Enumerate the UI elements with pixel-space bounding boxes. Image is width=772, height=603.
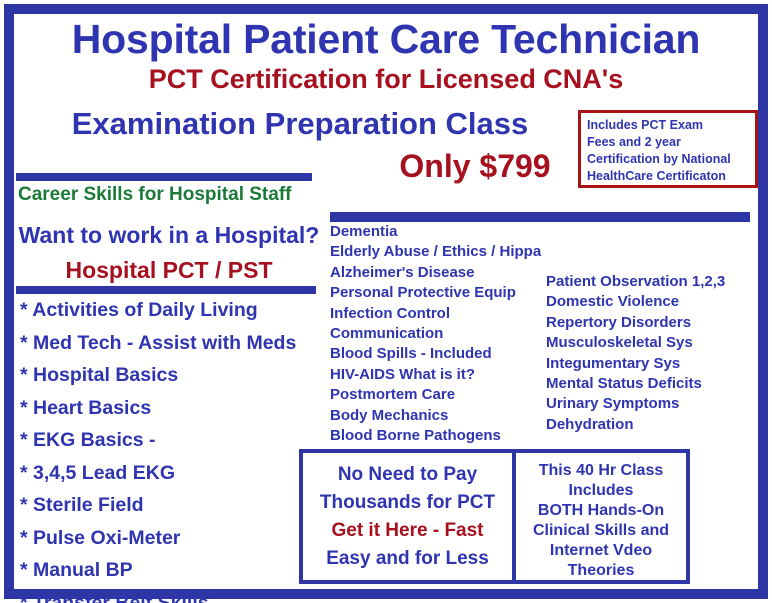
bottom-callout-boxes: No Need to Pay Thousands for PCT Get it … bbox=[299, 449, 690, 584]
list-item: Blood Borne Pathogens bbox=[330, 426, 545, 446]
list-item: Dementia bbox=[330, 222, 545, 242]
list-item: * Hospital Basics bbox=[20, 359, 320, 392]
topics-right-list: Patient Observation 1,2,3 Domestic Viole… bbox=[546, 272, 761, 435]
list-item: Postmortem Care bbox=[330, 385, 545, 405]
price-label: Only $799 bbox=[370, 148, 580, 185]
value-line: Thousands for PCT bbox=[303, 489, 512, 517]
list-item: Musculoskeletal Sys bbox=[546, 333, 761, 353]
list-item: Elderly Abuse / Ethics / Hippa bbox=[330, 242, 545, 262]
list-item: * Manual BP bbox=[20, 554, 320, 587]
list-item: * EKG Basics - bbox=[20, 424, 320, 457]
list-item: Integumentary Sys bbox=[546, 354, 761, 374]
note-line: Fees and 2 year bbox=[587, 134, 751, 151]
list-item: Mental Status Deficits bbox=[546, 374, 761, 394]
class-details-box: This 40 Hr Class Includes BOTH Hands-On … bbox=[516, 453, 686, 580]
list-item: Personal Protective Equip bbox=[330, 283, 545, 303]
page-third-line: Examination Preparation Class bbox=[10, 106, 590, 142]
list-item: Infection Control bbox=[330, 304, 545, 324]
divider-rule-left-bottom bbox=[16, 286, 316, 294]
list-item: Body Mechanics bbox=[330, 406, 545, 426]
value-callout-box: No Need to Pay Thousands for PCT Get it … bbox=[303, 453, 516, 580]
list-item: * Transfer Belt Skills bbox=[20, 587, 320, 603]
list-item: Communication bbox=[330, 324, 545, 344]
list-item: HIV-AIDS What is it? bbox=[330, 365, 545, 385]
list-item: Blood Spills - Included bbox=[330, 344, 545, 364]
value-line: No Need to Pay bbox=[303, 461, 512, 489]
list-item: Alzheimer's Disease bbox=[330, 263, 545, 283]
note-line: Certification by National bbox=[587, 151, 751, 168]
page-title: Hospital Patient Care Technician bbox=[14, 16, 758, 63]
hospital-question: Want to work in a Hospital? bbox=[14, 222, 324, 249]
divider-rule-left-top bbox=[16, 173, 312, 181]
program-name: Hospital PCT / PST bbox=[14, 257, 324, 284]
list-item: * Activities of Daily Living bbox=[20, 294, 320, 327]
list-item: Dehydration bbox=[546, 415, 761, 435]
flyer-poster: Hospital Patient Care Technician PCT Cer… bbox=[0, 0, 772, 603]
note-line: Includes PCT Exam bbox=[587, 117, 751, 134]
list-item: Urinary Symptoms bbox=[546, 394, 761, 414]
class-line: Clinical Skills and bbox=[516, 521, 686, 541]
list-item: * Heart Basics bbox=[20, 392, 320, 425]
list-item: Domestic Violence bbox=[546, 292, 761, 312]
value-line-accent: Get it Here - Fast bbox=[303, 517, 512, 545]
note-line: HealthCare Certificaton bbox=[587, 168, 751, 185]
class-line: Internet Vdeo bbox=[516, 541, 686, 561]
list-item: * 3,4,5 Lead EKG bbox=[20, 457, 320, 490]
class-line: BOTH Hands-On bbox=[516, 501, 686, 521]
class-line: Includes bbox=[516, 481, 686, 501]
class-line: Theories bbox=[516, 561, 686, 580]
list-item: Patient Observation 1,2,3 bbox=[546, 272, 761, 292]
page-subtitle: PCT Certification for Licensed CNA's bbox=[14, 64, 758, 95]
career-skills-heading: Career Skills for Hospital Staff bbox=[18, 184, 328, 206]
topics-middle-list: Dementia Elderly Abuse / Ethics / Hippa … bbox=[330, 222, 545, 446]
inclusions-note-box: Includes PCT Exam Fees and 2 year Certif… bbox=[578, 110, 758, 188]
list-item: * Pulse Oxi-Meter bbox=[20, 522, 320, 555]
value-line: Easy and for Less bbox=[303, 545, 512, 573]
list-item: * Sterile Field bbox=[20, 489, 320, 522]
divider-rule-right-top bbox=[330, 212, 750, 222]
list-item: Repertory Disorders bbox=[546, 313, 761, 333]
list-item: * Med Tech - Assist with Meds bbox=[20, 327, 320, 360]
skills-list: * Activities of Daily Living * Med Tech … bbox=[20, 294, 320, 603]
class-line: This 40 Hr Class bbox=[516, 461, 686, 481]
